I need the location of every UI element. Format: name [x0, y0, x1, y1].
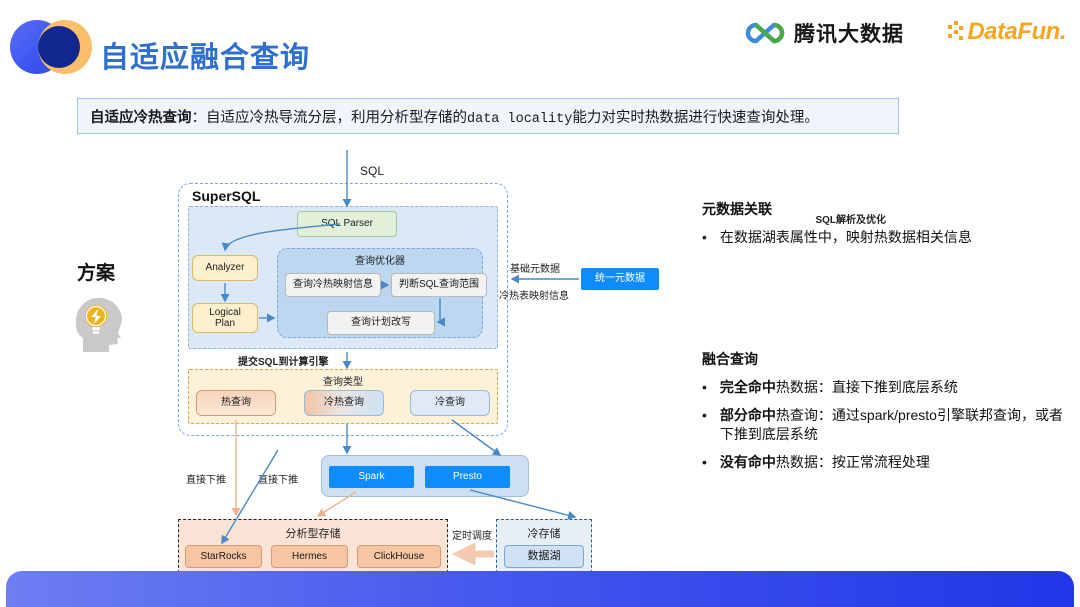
right-section-metadata: 元数据关联 • 在数据湖表属性中，映射热数据相关信息	[702, 199, 1072, 247]
section2-item-2-text: 热数据：按正常流程处理	[776, 454, 930, 470]
callout-banner: 自适应冷热查询：自适应冷热导流分层，利用分析型存储的data locality能…	[77, 98, 899, 134]
section1-item-0-text: 在数据湖表属性中，映射热数据相关信息	[720, 228, 972, 247]
infinity-icon	[743, 20, 787, 46]
brand-logo	[10, 16, 96, 78]
query-type-label: 查询类型	[188, 373, 498, 388]
datafun-name: DataFun.	[967, 18, 1066, 46]
metadata-label-basic: 基础元数据	[510, 260, 560, 275]
callout-mono: data locality	[467, 112, 572, 127]
logo-circle-overlap	[38, 26, 80, 68]
head-lightbulb-icon	[68, 290, 130, 352]
query-type-mixed[interactable]: 冷热查询	[304, 390, 384, 416]
schedule-label: 定时调度	[452, 527, 492, 542]
query-type-hot[interactable]: 热查询	[196, 390, 276, 416]
store-clickhouse[interactable]: ClickHouse	[357, 545, 441, 568]
section2-item-2: • 没有命中热数据：按正常流程处理	[702, 453, 1074, 472]
sql-parser-box[interactable]: SQL Parser	[297, 211, 397, 237]
datafun-logo: DataFun.	[948, 18, 1066, 46]
callout-part2: 能力对实时热数据进行快速查询处理。	[572, 110, 819, 126]
callout-part1: 自适应冷热导流分层，利用分析型存储的	[206, 110, 467, 126]
diagram-arrows	[0, 0, 1080, 607]
section2-item-2-bold: 没有命中	[720, 454, 776, 470]
engine-presto[interactable]: Presto	[425, 466, 510, 488]
section1-item-0: • 在数据湖表属性中，映射热数据相关信息	[702, 228, 1072, 247]
section2-heading: 融合查询	[702, 349, 1074, 369]
logical-plan-line1: Logical	[209, 307, 241, 319]
query-type-cold[interactable]: 冷查询	[410, 390, 490, 416]
submit-sql-label: 提交SQL到计算引擎	[238, 353, 329, 368]
section2-item-1-bold: 部分命中	[720, 407, 776, 423]
bullet-icon: •	[702, 406, 707, 444]
bullet-icon: •	[702, 453, 707, 472]
engine-spark[interactable]: Spark	[329, 466, 414, 488]
optimizer-box-rewrite[interactable]: 查询计划改写	[327, 311, 435, 335]
optimizer-box-mapping[interactable]: 查询冷热映射信息	[285, 273, 381, 297]
bullet-icon: •	[702, 228, 707, 247]
sql-input-label: SQL	[360, 164, 384, 178]
logical-plan-box[interactable]: Logical Plan	[192, 303, 258, 333]
right-section-fusion: 融合查询 • 完全命中热数据：直接下推到底层系统 • 部分命中热查询：通过spa…	[702, 349, 1074, 472]
tencent-bigdata-name: 腾讯大数据	[794, 18, 904, 48]
section2-item-0-text: 热数据：直接下推到底层系统	[776, 379, 958, 395]
pushdown-label-2: 直接下推	[258, 471, 298, 486]
callout-label: 自适应冷热查询	[90, 110, 192, 126]
section2-item-0: • 完全命中热数据：直接下推到底层系统	[702, 378, 1074, 397]
store-data-lake[interactable]: 数据湖	[504, 545, 584, 568]
datafun-dots-icon	[948, 21, 964, 43]
section2-item-2-body: 没有命中热数据：按正常流程处理	[720, 453, 930, 472]
section1-heading: 元数据关联	[702, 199, 1072, 219]
bottom-accent-bar	[6, 571, 1074, 607]
pushdown-label-1: 直接下推	[186, 471, 226, 486]
metadata-label-mapping: 冷热表映射信息	[499, 287, 569, 302]
analytic-storage-label: 分析型存储	[178, 525, 448, 541]
cold-storage-label: 冷存储	[496, 525, 592, 541]
logical-plan-line2: Plan	[215, 318, 235, 330]
bullet-icon: •	[702, 378, 707, 397]
section2-item-0-bold: 完全命中	[720, 379, 776, 395]
section2-item-0-body: 完全命中热数据：直接下推到底层系统	[720, 378, 958, 397]
callout-text: 自适应冷热查询：自适应冷热导流分层，利用分析型存储的data locality能…	[90, 106, 819, 127]
analyzer-box[interactable]: Analyzer	[192, 255, 258, 281]
section2-item-1: • 部分命中热查询：通过spark/presto引擎联邦查询，或者下推到底层系统	[702, 406, 1074, 444]
tencent-bigdata-logo: 腾讯大数据	[743, 18, 904, 48]
page-title: 自适应融合查询	[100, 34, 310, 76]
query-optimizer-label: 查询优化器	[277, 252, 483, 267]
callout-sep: ：	[192, 110, 207, 126]
plan-label: 方案	[77, 258, 115, 285]
store-hermes[interactable]: Hermes	[271, 545, 348, 568]
supersql-title: SuperSQL	[192, 188, 260, 204]
section2-item-1-body: 部分命中热查询：通过spark/presto引擎联邦查询，或者下推到底层系统	[720, 406, 1074, 444]
store-starrocks[interactable]: StarRocks	[185, 545, 262, 568]
optimizer-box-scope[interactable]: 判断SQL查询范围	[391, 273, 487, 297]
unified-metadata-box[interactable]: 统一元数据	[581, 268, 659, 290]
